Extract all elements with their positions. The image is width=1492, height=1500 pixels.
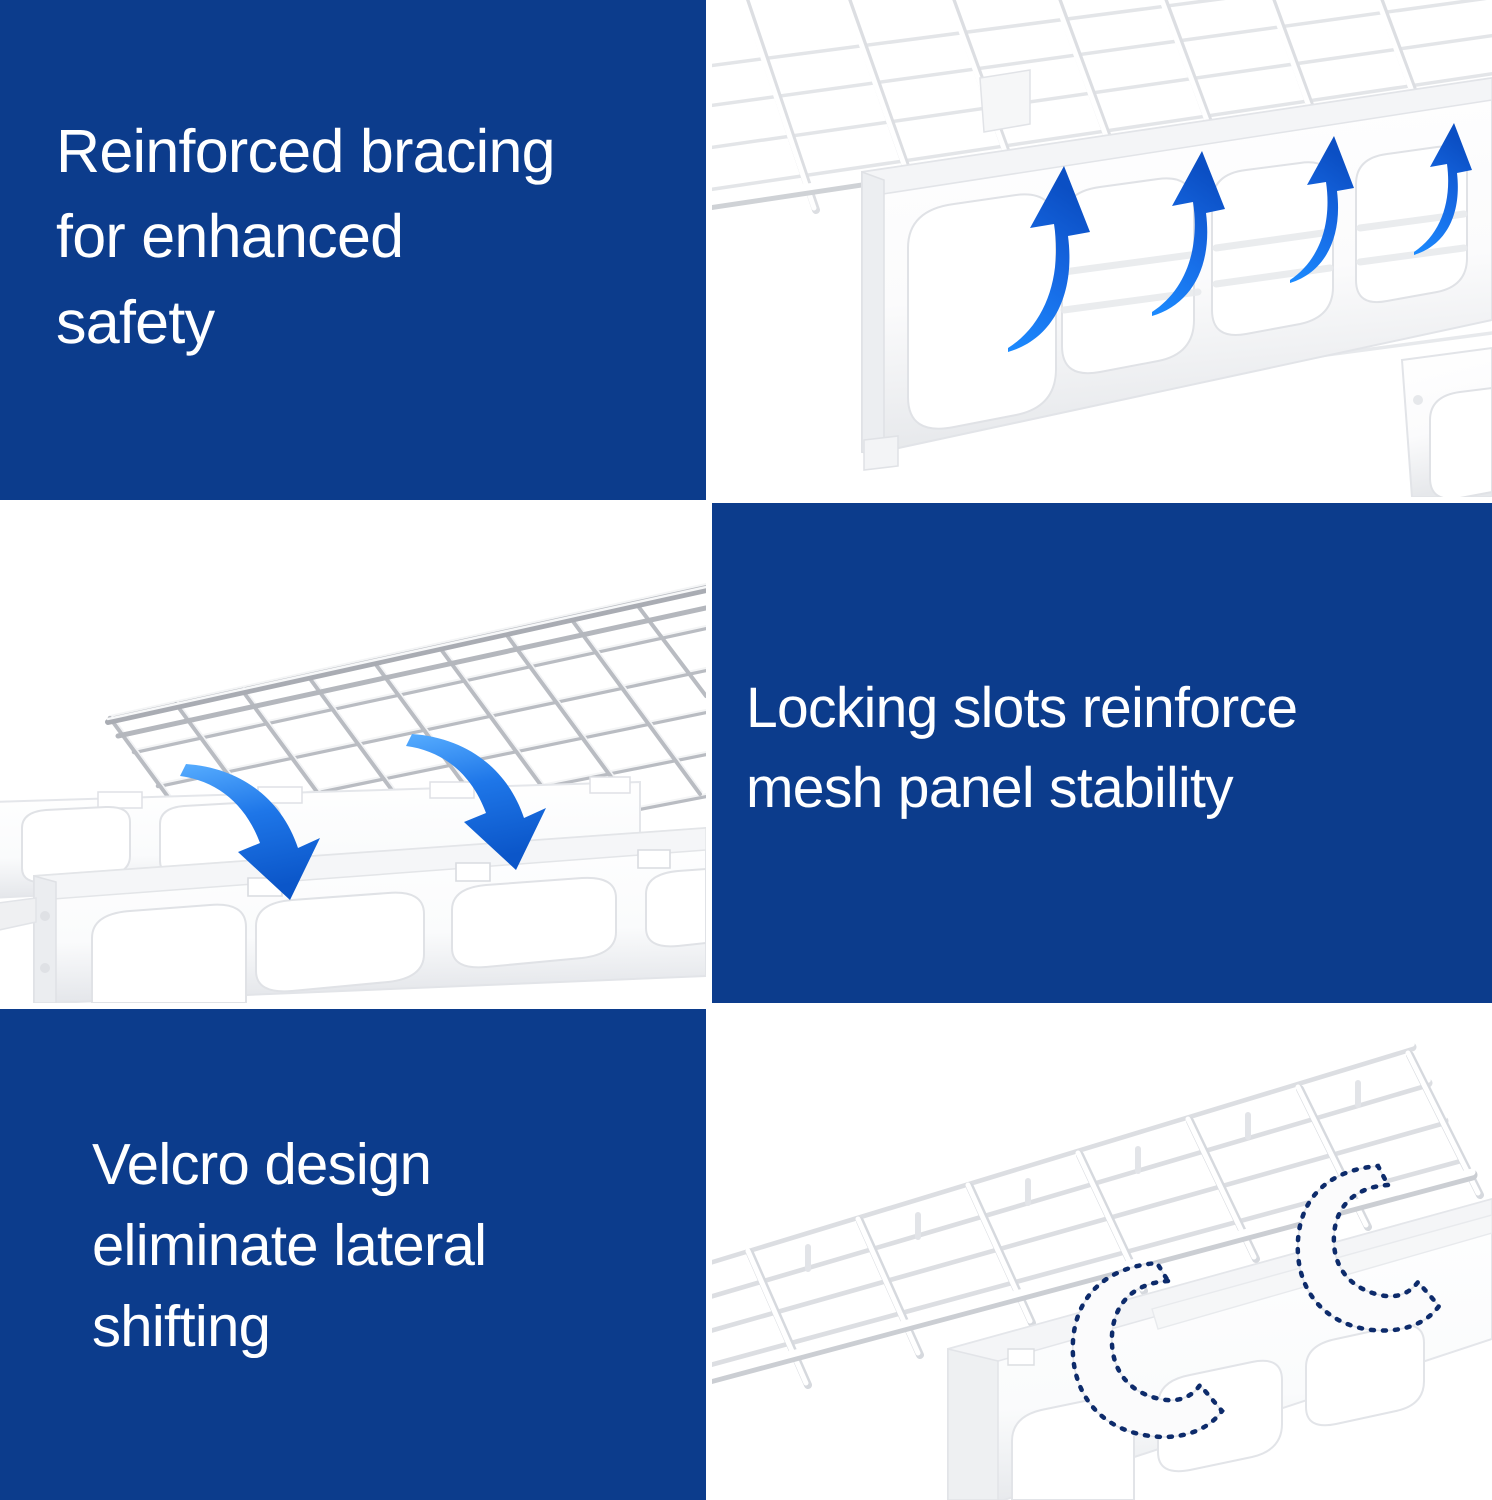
panel-velcro-design: Velcro design eliminate lateral shifting: [0, 1009, 706, 1500]
headline-locking-slots: Locking slots reinforce mesh panel stabi…: [712, 669, 1321, 837]
headline-reinforced-bracing: Reinforced bracing for enhanced safety: [0, 109, 555, 391]
photo-reinforced-bracing: [712, 0, 1492, 497]
side-bracket-plate-secondary: [1402, 348, 1492, 497]
mount-tab-left: [980, 70, 1030, 132]
panel-bracing-photo: [712, 0, 1492, 497]
panel-locking-slots-photo: [0, 506, 706, 1003]
product-feature-infographic: Reinforced bracing for enhanced safety: [0, 0, 1492, 1500]
photo-velcro-straps: [712, 1009, 1492, 1500]
photo-locking-slots: [0, 506, 706, 1003]
panel-reinforced-bracing: Reinforced bracing for enhanced safety: [0, 0, 706, 500]
headline-velcro-design: Velcro design eliminate lateral shifting: [0, 1124, 486, 1386]
panel-locking-slots: Locking slots reinforce mesh panel stabi…: [712, 503, 1492, 1003]
panel-velcro-photo: [712, 1009, 1492, 1500]
